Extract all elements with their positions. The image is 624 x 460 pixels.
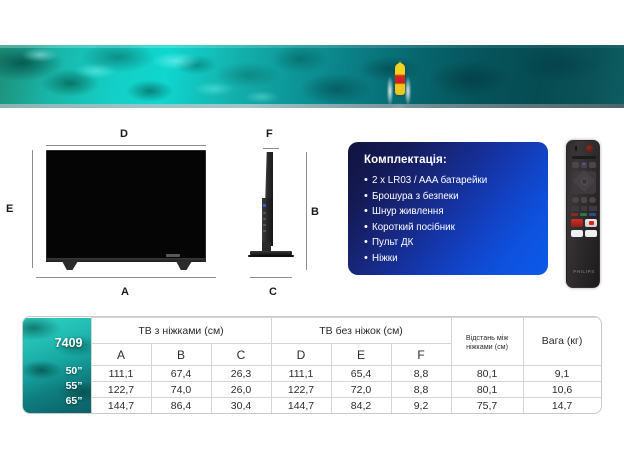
dimension-label-c: C [269,286,277,298]
cell-c: 30,4 [211,398,271,414]
specifications-table: 7409 50” 55” 65” ТВ з ніжками (см) ТВ бе… [22,316,602,414]
dimension-label-b: B [311,206,319,218]
tv-side-view: F B C [232,128,332,303]
header-weight: Вага (кг) [523,318,601,366]
table-row: 122,7 74,0 26,0 122,7 72,0 8,8 80,1 10,6 [23,382,601,398]
product-spec-sheet: D E A F B C Комплектація: 2 x LR03 / AAA [0,0,624,460]
ok-button-icon [581,178,588,185]
table-header-row-groups: 7409 50” 55” 65” ТВ з ніжками (см) ТВ бе… [23,318,601,344]
app-shortcut-1-icon [571,230,583,237]
cell-b: 67,4 [151,366,211,382]
table-row: 111,1 67,4 26,3 111,1 65,4 8,8 80,1 9,1 [23,366,601,382]
cell-b: 86,4 [151,398,211,414]
power-button-icon [586,145,593,152]
header-col-a: A [91,344,151,366]
header-col-d: D [271,344,331,366]
tv-screen-panel [46,150,206,260]
dimension-line-f [263,148,279,149]
cell-a: 144,7 [91,398,151,414]
cell-weight: 9,1 [523,366,601,382]
cell-d: 111,1 [271,366,331,382]
box-contents-panel: Комплектація: 2 x LR03 / AAA батарейки Б… [348,142,548,275]
header-col-c: C [211,344,271,366]
netflix-button-icon [571,219,583,227]
app-shortcut-2-icon [585,230,597,237]
size-label-3: 65” [66,395,83,407]
header-col-b: B [151,344,211,366]
microphone-icon [575,146,577,151]
channel-rocker-icon [589,206,597,211]
cell-stand-distance: 80,1 [451,366,523,382]
dimension-line-b [306,152,307,270]
cell-d: 144,7 [271,398,331,414]
volume-rocker-icon [571,206,579,211]
home-button-icon [581,197,587,203]
box-contents-title: Комплектація: [364,154,534,166]
list-item: Пульт ДК [364,235,534,251]
banner-bottom-edge [0,104,624,108]
cell-a: 122,7 [91,382,151,398]
cell-e: 65,4 [331,366,391,382]
hero-banner-image [0,45,624,108]
boat-icon [395,63,405,95]
size-label-2: 55” [66,380,83,392]
tv-front-view: D E A [18,128,228,303]
tv-port-1 [263,212,266,214]
list-item: Ніжки [364,251,534,267]
cell-d: 122,7 [271,382,331,398]
table: 7409 50” 55” 65” ТВ з ніжками (см) ТВ бе… [23,317,602,414]
cell-c: 26,0 [211,382,271,398]
options-button-icon [589,197,596,203]
remote-brand-label: PHILIPS [567,269,600,274]
cell-f: 8,8 [391,382,451,398]
back-button-icon [572,197,579,203]
cell-stand-distance: 75,7 [451,398,523,414]
cell-weight: 14,7 [523,398,601,414]
tv-status-led [263,204,266,207]
dimension-label-a: A [121,286,129,298]
cell-f: 8,8 [391,366,451,382]
banner-top-edge [0,45,624,48]
cell-weight: 10,6 [523,382,601,398]
model-cell: 7409 50” 55” 65” [23,318,91,414]
dimension-line-d [46,145,206,146]
list-item: Брошура з безпеки [364,189,534,205]
red-color-key-icon [571,213,578,216]
dimension-line-a [36,277,216,278]
youtube-play-icon [589,221,594,225]
green-color-key-icon [580,213,587,216]
size-label-1: 50” [66,365,83,377]
dimension-line-e [32,150,33,268]
tv-port-3 [263,224,266,226]
mute-button-icon [581,206,587,211]
header-without-stand: ТВ без ніжок (см) [271,318,451,344]
box-contents-list: 2 x LR03 / AAA батарейки Брошура з безпе… [364,173,534,266]
settings-button-icon [589,162,596,168]
table-row: 144,7 86,4 30,4 144,7 84,2 9,2 75,7 14,7 [23,398,601,414]
dimension-line-c [250,277,292,278]
dimension-label-d: D [120,128,128,140]
list-item: 2 x LR03 / AAA батарейки [364,173,534,189]
header-with-stand: ТВ з ніжками (см) [91,318,271,344]
cell-c: 26,3 [211,366,271,382]
header-col-f: F [391,344,451,366]
cell-e: 72,0 [331,382,391,398]
dimension-label-e: E [6,203,13,215]
header-stand-distance: Відстань між ніжками (см) [451,318,523,366]
tv-foot-left [62,261,78,270]
source-button-icon [572,162,579,168]
cell-stand-distance: 80,1 [451,382,523,398]
remote-ir-strip [572,156,596,159]
tv-port-4 [263,230,266,232]
list-item: Шнур живлення [364,204,534,220]
model-number: 7409 [55,336,83,350]
dimension-label-f: F [266,128,273,140]
cell-e: 84,2 [331,398,391,414]
tv-brand-logo [166,254,180,257]
blue-color-key-icon [589,213,596,216]
tv-port-2 [263,218,266,220]
remote-control-image: PHILIPS [566,140,600,288]
cell-b: 74,0 [151,382,211,398]
assistant-dot-icon [583,163,585,165]
tv-stand-shadow [248,255,294,257]
cell-a: 111,1 [91,366,151,382]
tv-foot-right [176,261,192,270]
banner-foam-texture [0,45,624,108]
header-col-e: E [331,344,391,366]
cell-f: 9,2 [391,398,451,414]
list-item: Короткий посібник [364,220,534,236]
